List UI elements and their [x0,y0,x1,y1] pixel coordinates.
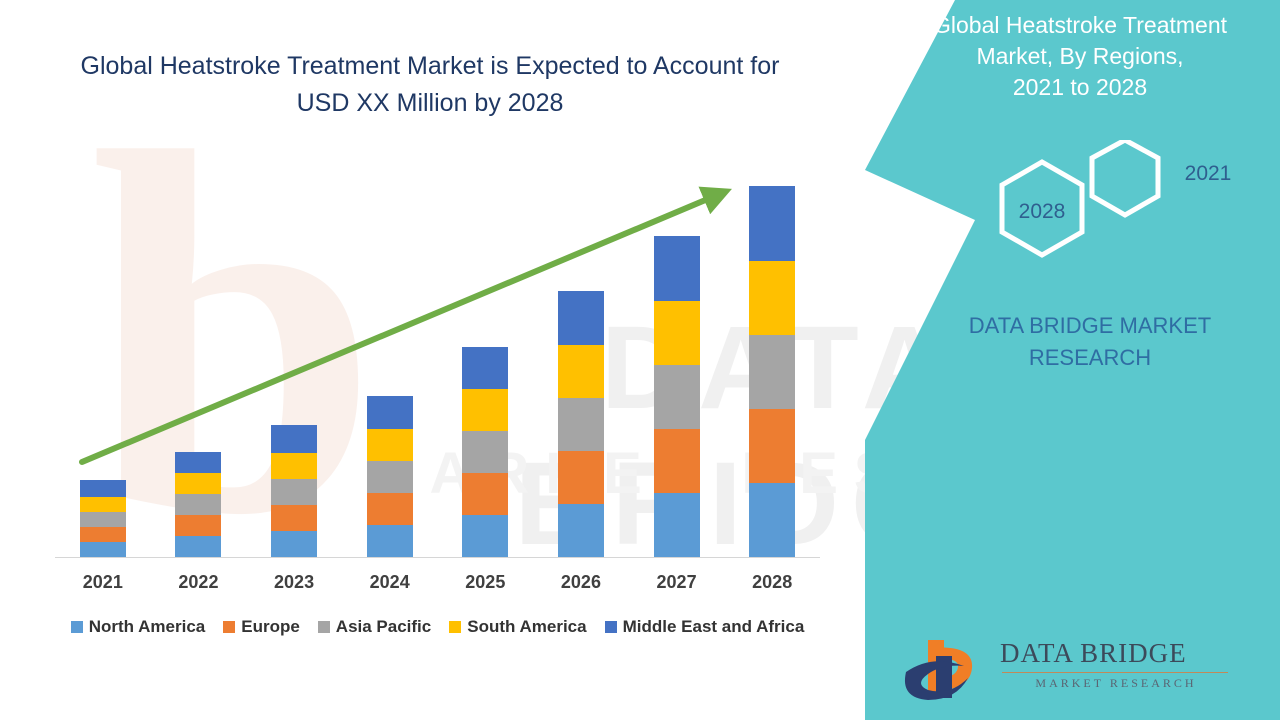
stacked-bar [558,291,604,557]
bar-segment [175,536,221,557]
x-axis-line [55,557,820,558]
bar-segment [80,542,126,557]
x-axis-label-2027: 2027 [629,572,725,593]
side-panel-title: Global Heatstroke Treatment Market, By R… [900,10,1260,103]
legend-label: Asia Pacific [336,617,431,637]
x-axis-label-2022: 2022 [151,572,247,593]
chart-title-line1: Global Heatstroke Treatment Market is Ex… [81,52,780,80]
bar-segment [367,493,413,525]
bar-segment [80,512,126,527]
stacked-bar [462,347,508,557]
bar-segment [175,452,221,473]
legend-swatch-icon [449,621,461,633]
chart-title-line2: USD XX Million by 2028 [297,89,564,117]
bar-segment [462,431,508,473]
legend-item[interactable]: South America [449,617,586,637]
bar-segment [271,505,317,531]
bar-segment [654,493,700,557]
logo-wordmark: DATA BRIDGE [1000,638,1187,669]
bar-group-2023 [246,160,342,557]
legend-label: South America [467,617,586,637]
bar-segment [462,347,508,389]
x-axis-label-2021: 2021 [55,572,151,593]
side-title-line3: 2021 to 2028 [1013,74,1147,100]
stacked-bar [80,480,126,557]
stacked-bar [175,452,221,557]
bar-segment [271,479,317,505]
x-axis-label-2026: 2026 [533,572,629,593]
logo-tagline: MARKET RESEARCH [1002,676,1230,691]
legend-label: North America [89,617,206,637]
chart-legend: North AmericaEuropeAsia PacificSouth Ame… [55,617,820,637]
legend-label: Middle East and Africa [623,617,805,637]
side-title-line1: Global Heatstroke Treatment [933,12,1227,38]
logo-divider [1002,672,1228,673]
legend-label: Europe [241,617,300,637]
bar-segment [462,473,508,515]
bar-segment [654,236,700,301]
bar-segment [558,451,604,504]
bar-segment [558,291,604,345]
bar-segment [271,425,317,453]
x-axis-label-2023: 2023 [246,572,342,593]
bar-segment [558,398,604,451]
bar-segment [654,365,700,429]
legend-item[interactable]: Middle East and Africa [605,617,805,637]
legend-swatch-icon [223,621,235,633]
bar-segment [558,345,604,398]
bar-group-2024 [342,160,438,557]
bar-segment [462,389,508,431]
bar-segment [271,531,317,557]
stacked-bar [271,425,317,557]
bar-group-2027 [629,160,725,557]
side-panel: Global Heatstroke Treatment Market, By R… [880,0,1280,720]
bar-segment [80,480,126,497]
stacked-bar [367,396,413,557]
hexagon-badges: 2028 2021 [880,140,1280,280]
bar-segment [80,497,126,512]
brand-line1: DATA BRIDGE MARKET [969,313,1211,338]
bar-segment [175,473,221,494]
x-axis-labels: 20212022202320242025202620272028 [55,572,820,593]
bar-segment [80,527,126,542]
legend-swatch-icon [318,621,330,633]
bar-group-2021 [55,160,151,557]
hexagon-label-2028: 2028 [842,200,1242,224]
bar-group-2028 [724,160,820,557]
bar-group-2022 [151,160,247,557]
logo-mark-icon [898,634,998,704]
bar-segment [749,261,795,335]
bar-segment [367,525,413,557]
legend-item[interactable]: North America [71,617,206,637]
stacked-bar [654,236,700,557]
page-title: Global Heatstroke Treatment Market is Ex… [40,48,820,122]
bar-segment [749,483,795,557]
x-axis-label-2025: 2025 [438,572,534,593]
bar-segment [558,504,604,557]
bar-segment [462,515,508,557]
legend-swatch-icon [71,621,83,633]
stacked-bar [749,186,795,557]
bar-segment [367,396,413,429]
legend-swatch-icon [605,621,617,633]
bar-segment [749,409,795,483]
legend-item[interactable]: Europe [223,617,300,637]
brand-name: DATA BRIDGE MARKET RESEARCH [900,310,1280,374]
hexagon-label-2021: 2021 [1008,162,1280,186]
bar-segment [749,335,795,409]
x-axis-label-2028: 2028 [724,572,820,593]
brand-line2: RESEARCH [1029,345,1151,370]
x-axis-label-2024: 2024 [342,572,438,593]
bar-group-2025 [438,160,534,557]
infographic-canvas: b DATA BRIDGE MARKET RESEARCH Global Hea… [0,0,1280,720]
bar-segment [367,461,413,493]
bar-segment [175,515,221,536]
bar-group-2026 [533,160,629,557]
bar-segment [367,429,413,461]
side-title-line2: Market, By Regions, [976,43,1183,69]
bar-segment [654,429,700,493]
bar-segment [271,453,317,479]
bar-segment [749,186,795,261]
stacked-bar-chart [55,160,820,557]
legend-item[interactable]: Asia Pacific [318,617,431,637]
bar-segment [654,301,700,365]
company-logo: DATA BRIDGE MARKET RESEARCH [890,630,1270,710]
bar-segment [175,494,221,515]
